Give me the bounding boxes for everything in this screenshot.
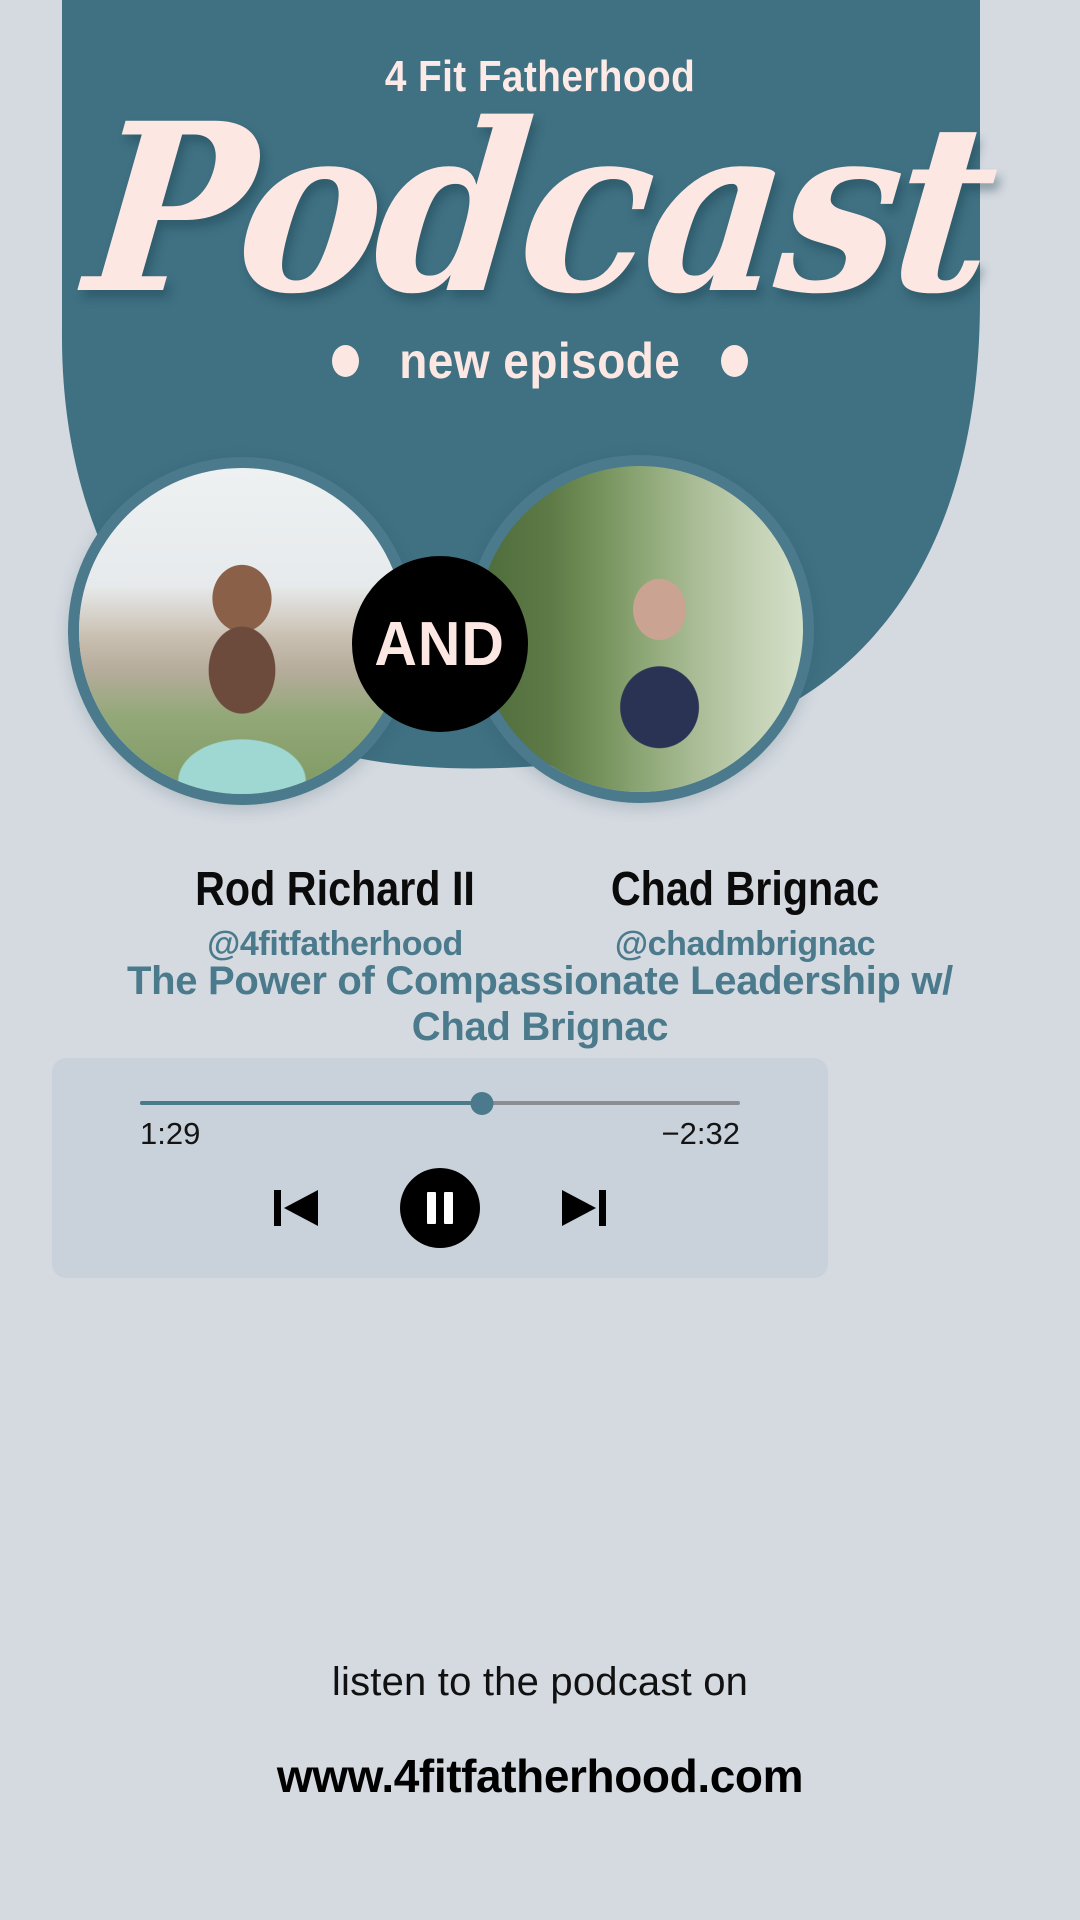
skip-back-icon[interactable] [270, 1185, 322, 1231]
remaining-time: −2:32 [662, 1116, 740, 1152]
audio-player-card: 1:29 −2:32 [52, 1058, 828, 1278]
episode-title: The Power of Compassionate Leadership w/… [0, 958, 1080, 1051]
skip-forward-icon[interactable] [558, 1185, 610, 1231]
speaker-col-right: Chad Brignac @chadmbrignac [535, 862, 955, 964]
speaker-names-row: Rod Richard II @4fitfatherhood Chad Brig… [0, 862, 1080, 964]
progress-thumb[interactable] [471, 1092, 494, 1115]
progress-fill [140, 1101, 482, 1105]
footer: listen to the podcast on www.4fitfatherh… [0, 1660, 1080, 1803]
speakers-photos [0, 455, 1080, 835]
and-badge-label: AND [375, 609, 505, 680]
pause-button[interactable] [400, 1168, 480, 1248]
player-controls [52, 1168, 828, 1248]
elapsed-time: 1:29 [140, 1116, 200, 1152]
speaker-col-left: Rod Richard II @4fitfatherhood [125, 862, 545, 964]
speaker-name-right: Chad Brignac [564, 862, 925, 917]
footer-website-url[interactable]: www.4fitfatherhood.com [0, 1749, 1080, 1803]
pause-icon-bar-right [444, 1192, 453, 1224]
progress-bar[interactable] [140, 1096, 740, 1110]
speaker-name-left: Rod Richard II [154, 862, 515, 917]
player-timestamps: 1:29 −2:32 [140, 1116, 740, 1152]
footer-lead-text: listen to the podcast on [0, 1660, 1080, 1705]
and-badge: AND [352, 556, 528, 732]
pause-icon-bar-left [427, 1192, 436, 1224]
